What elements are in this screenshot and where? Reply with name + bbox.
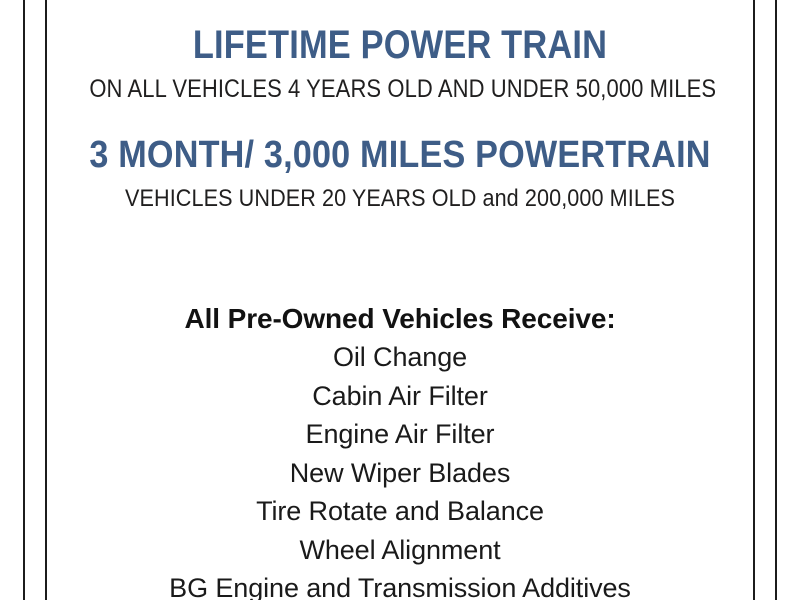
service-item: BG Engine and Transmission Additives [47,569,753,600]
warranty-subheading-lifetime: ON ALL VEHICLES 4 YEARS OLD AND UNDER 50… [89,74,710,104]
warranty-block-lifetime: LIFETIME POWER TRAIN ON ALL VEHICLES 4 Y… [47,0,753,104]
service-item: Oil Change [47,338,753,377]
warranty-flyer: LIFETIME POWER TRAIN ON ALL VEHICLES 4 Y… [0,0,800,600]
frame-rule-inner-right [753,0,755,600]
service-item: New Wiper Blades [47,454,753,493]
frame-rule-outer-left [23,0,25,600]
service-item: Wheel Alignment [47,531,753,570]
flyer-content: LIFETIME POWER TRAIN ON ALL VEHICLES 4 Y… [47,0,753,600]
service-item: Cabin Air Filter [47,377,753,416]
service-item: Engine Air Filter [47,415,753,454]
services-section: All Pre-Owned Vehicles Receive: Oil Chan… [47,300,753,600]
warranty-headline-three-month: 3 MONTH/ 3,000 MILES POWERTRAIN [82,132,717,178]
warranty-block-three-month: 3 MONTH/ 3,000 MILES POWERTRAIN VEHICLES… [47,104,753,214]
services-list: Oil Change Cabin Air Filter Engine Air F… [47,338,753,600]
service-item: Tire Rotate and Balance [47,492,753,531]
services-title: All Pre-Owned Vehicles Receive: [47,300,753,338]
frame-rule-outer-right [775,0,777,600]
warranty-subheading-three-month: VEHICLES UNDER 20 YEARS OLD and 200,000 … [82,184,717,214]
warranty-headline-lifetime: LIFETIME POWER TRAIN [96,22,703,68]
